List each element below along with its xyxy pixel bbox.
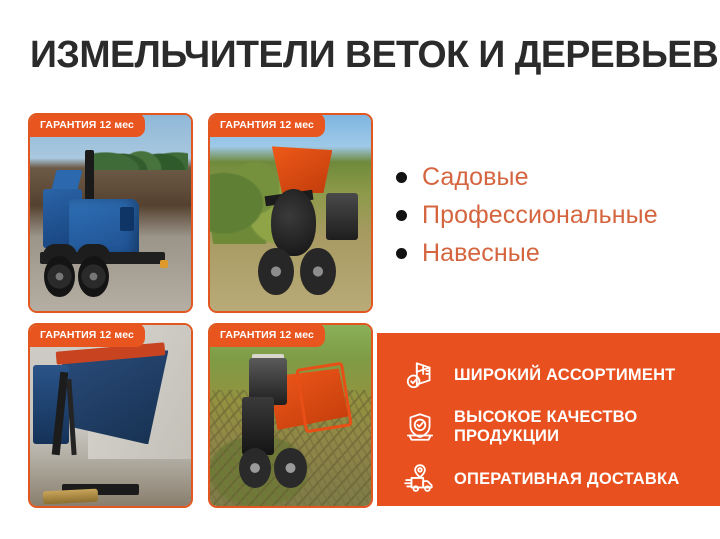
bullet-dot-icon (396, 210, 407, 221)
list-item-label: Садовые (422, 163, 529, 192)
list-item-professionalnye: Профессиональные (396, 196, 706, 234)
feature-label: ОПЕРАТИВНАЯ ДОСТАВКА (454, 470, 679, 489)
warranty-badge: ГАРАНТИЯ 12 мес (208, 323, 325, 347)
product-photo-orange-engine-chipper (210, 325, 371, 506)
feature-label: ВЫСОКОЕ КАЧЕСТВО ПРОДУКЦИИ (454, 408, 720, 446)
bullet-dot-icon (396, 248, 407, 259)
product-type-list: Садовые Профессиональные Навесные (396, 158, 706, 272)
list-item-label: Навесные (422, 239, 540, 268)
warranty-badge: ГАРАНТИЯ 12 мес (28, 113, 145, 137)
features-panel: ШИРОКИЙ АССОРТИМЕНТ ВЫСОКОЕ КАЧЕСТВО ПРО… (377, 333, 720, 506)
product-photo-blue-trailer-chipper (30, 115, 191, 311)
avito-logo-icon (633, 508, 659, 528)
feature-wide-assortment: ШИРОКИЙ АССОРТИМЕНТ (377, 349, 720, 401)
feature-fast-delivery: ОПЕРАТИВНАЯ ДОСТАВКА (377, 453, 720, 505)
product-photo-orange-wheeled-chipper (210, 115, 371, 311)
list-item-label: Профессиональные (422, 201, 658, 230)
product-card-1[interactable]: ГАРАНТИЯ 12 мес (28, 113, 193, 313)
product-card-2[interactable]: ГАРАНТИЯ 12 мес (208, 113, 373, 313)
page-title: ИЗМЕЛЬЧИТЕЛИ ВЕТОК И ДЕРЕВЬЕВ (30, 36, 682, 74)
shield-check-quality-icon (401, 408, 439, 446)
bullet-dot-icon (396, 172, 407, 183)
product-card-3[interactable]: ГАРАНТИЯ 12 мес (28, 323, 193, 508)
warranty-badge: ГАРАНТИЯ 12 мес (208, 113, 325, 137)
list-item-navesnye: Навесные (396, 234, 706, 272)
package-box-check-icon (401, 356, 439, 394)
product-card-4[interactable]: ГАРАНТИЯ 12 мес (208, 323, 373, 508)
avito-watermark: Avito (633, 507, 708, 529)
delivery-truck-pin-icon (401, 460, 439, 498)
warranty-badge: ГАРАНТИЯ 12 мес (28, 323, 145, 347)
feature-high-quality: ВЫСОКОЕ КАЧЕСТВО ПРОДУКЦИИ (377, 401, 720, 453)
avito-wordmark: Avito (663, 507, 708, 529)
list-item-sadovye: Садовые (396, 158, 706, 196)
product-photo-blue-hopper-chipper (30, 325, 191, 506)
feature-label: ШИРОКИЙ АССОРТИМЕНТ (454, 366, 675, 385)
